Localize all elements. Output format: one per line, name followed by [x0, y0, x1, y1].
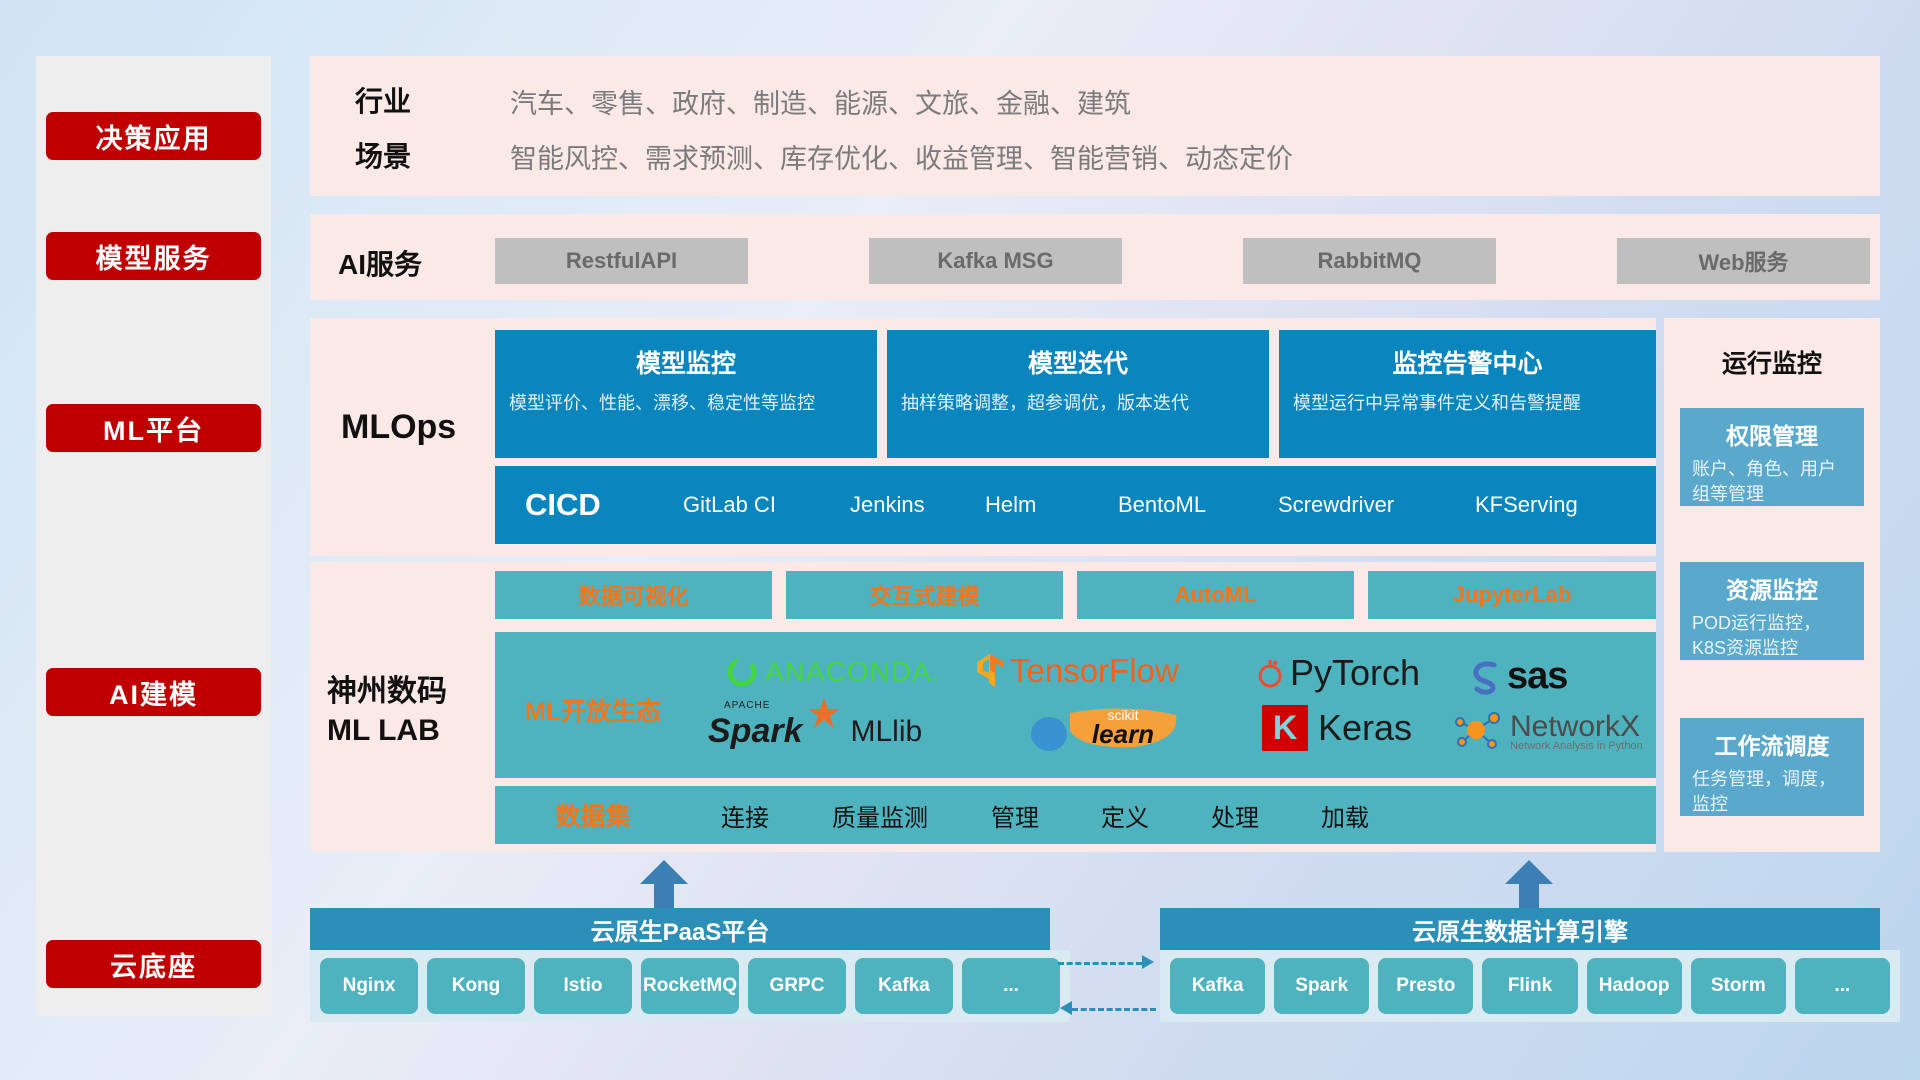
cicd-item-screwdriver[interactable]: Screwdriver — [1278, 492, 1403, 517]
rail-tag-decision[interactable]: 决策应用 — [46, 112, 261, 160]
paas-chip-istio[interactable]: Istio — [534, 958, 632, 1014]
pytorch-icon — [1255, 656, 1285, 690]
mlops-card-alert-center[interactable]: 监控告警中心 模型运行中异常事件定义和告警提醒 — [1279, 330, 1656, 458]
networkx-logo: NetworkX Network Analysis in Python — [1452, 708, 1643, 754]
mllab-label: 神州数码 ML LAB — [327, 672, 447, 750]
dataset-item-manage[interactable]: 管理 — [975, 798, 1055, 833]
chip-label: Storm — [1711, 976, 1766, 997]
keras-k-icon: K — [1262, 705, 1308, 751]
card-title: 资源监控 — [1680, 571, 1864, 605]
paas-chip-kafka[interactable]: Kafka — [855, 958, 953, 1014]
card-desc: 账户、角色、用户组等管理 — [1680, 457, 1864, 507]
dash-arrow-right — [1058, 962, 1142, 965]
networkx-graph-icon — [1452, 708, 1506, 754]
scenario-value: 智能风控、需求预测、库存优化、收益管理、智能营销、动态定价 — [510, 137, 1293, 176]
dataset-label: 数据集 — [533, 797, 653, 833]
cicd-item-bentoml[interactable]: BentoML — [1118, 492, 1228, 517]
anaconda-wordmark: ANACONDA. — [765, 656, 940, 688]
arrow-up-data-engine — [1505, 860, 1553, 910]
networkx-wordmark: NetworkX — [1510, 710, 1643, 744]
chip-label: Kafka — [1192, 976, 1244, 997]
chip-label: RocketMQ — [643, 976, 737, 997]
chip-label: Kafka MSG — [937, 248, 1053, 274]
cicd-item-jenkins[interactable]: Jenkins — [850, 492, 960, 517]
mllib-wordmark: MLlib — [851, 715, 923, 749]
card-title: 监控告警中心 — [1279, 344, 1656, 380]
left-rail — [36, 56, 271, 1016]
chip-label: Istio — [563, 976, 602, 997]
cicd-item-gitlab-ci[interactable]: GitLab CI — [683, 492, 793, 517]
mlops-card-model-iteration[interactable]: 模型迭代 抽样策略调整，超参调优，版本迭代 — [887, 330, 1269, 458]
architecture-diagram: 决策应用 模型服务 ML平台 AI建模 云底座 行业 汽车、零售、政府、制造、能… — [0, 0, 1920, 1080]
card-desc: 抽样策略调整，超参调优，版本迭代 — [887, 390, 1269, 416]
chip-label: 交互式建模 — [869, 579, 979, 611]
pytorch-wordmark: PyTorch — [1290, 652, 1420, 694]
engine-chip-kafka[interactable]: Kafka — [1170, 958, 1265, 1014]
mllab-label-line2: ML LAB — [327, 711, 447, 750]
dataset-item-process[interactable]: 处理 — [1195, 798, 1275, 833]
dataset-item-connect[interactable]: 连接 — [705, 798, 785, 833]
chip-label: Spark — [1295, 976, 1348, 997]
chip-label: RabbitMQ — [1318, 248, 1422, 274]
chip-label: Presto — [1396, 976, 1455, 997]
chip-label: ... — [1834, 976, 1850, 997]
ai-service-chip-rabbitmq[interactable]: RabbitMQ — [1243, 238, 1496, 284]
monitor-card-resource[interactable]: 资源监控 POD运行监控，K8S资源监控 — [1680, 562, 1864, 660]
engine-chip-presto[interactable]: Presto — [1378, 958, 1473, 1014]
rail-tag-label: ML平台 — [103, 409, 204, 448]
rail-tag-label: 模型服务 — [96, 237, 212, 276]
ai-service-chip-web-service[interactable]: Web服务 — [1617, 238, 1870, 284]
industry-value: 汽车、零售、政府、制造、能源、文旅、金融、建筑 — [510, 82, 1131, 121]
mllab-label-line1: 神州数码 — [327, 672, 447, 711]
paas-chip-grpc[interactable]: GRPC — [748, 958, 846, 1014]
chip-label: Hadoop — [1599, 976, 1670, 997]
scikit-learn-logo: scikit learn — [1030, 709, 1182, 756]
mlops-card-model-monitor[interactable]: 模型监控 模型评价、性能、漂移、稳定性等监控 — [495, 330, 877, 458]
chip-label: GRPC — [770, 976, 825, 997]
spark-mllib-logo: APACHE Spark MLlib — [708, 712, 922, 751]
cicd-item-kfserving[interactable]: KFServing — [1475, 492, 1595, 517]
card-desc: 任务管理，调度，监控 — [1680, 767, 1864, 817]
rail-tag-cloud-base[interactable]: 云底座 — [46, 940, 261, 988]
chip-label: 数据可视化 — [578, 579, 688, 611]
tool-chip-automl[interactable]: AutoML — [1077, 571, 1354, 619]
tool-chip-data-viz[interactable]: 数据可视化 — [495, 571, 772, 619]
card-desc: 模型评价、性能、漂移、稳定性等监控 — [495, 390, 877, 416]
chip-label: ... — [1003, 976, 1019, 997]
data-engine-title-bar: 云原生数据计算引擎 — [1160, 908, 1880, 950]
anaconda-logo: ANACONDA. — [725, 655, 940, 689]
tensorflow-wordmark: TensorFlow — [1010, 652, 1179, 690]
keras-wordmark: Keras — [1318, 707, 1412, 749]
scenario-key: 场景 — [355, 135, 411, 175]
card-title: 工作流调度 — [1680, 727, 1864, 761]
cicd-item-helm[interactable]: Helm — [985, 492, 1095, 517]
mlops-label: MLOps — [341, 408, 456, 447]
card-desc: POD运行监控，K8S资源监控 — [1680, 611, 1864, 661]
tool-chip-interactive[interactable]: 交互式建模 — [786, 571, 1063, 619]
chip-label: AutoML — [1175, 582, 1257, 608]
tool-chip-jupyterlab[interactable]: JupyterLab — [1368, 571, 1656, 619]
rail-tag-label: AI建模 — [109, 673, 198, 712]
spark-star-icon — [806, 696, 842, 732]
dataset-item-quality[interactable]: 质量监测 — [815, 798, 945, 833]
paas-chip-rocketmq[interactable]: RocketMQ — [641, 958, 739, 1014]
networkx-tagline: Network Analysis in Python — [1510, 740, 1643, 752]
rail-tag-label: 云底座 — [110, 945, 197, 984]
engine-chip-flink[interactable]: Flink — [1482, 958, 1577, 1014]
tensorflow-icon — [975, 653, 1005, 689]
chip-label: Nginx — [343, 976, 396, 997]
card-title: 模型迭代 — [887, 344, 1269, 380]
monitor-card-permission[interactable]: 权限管理 账户、角色、用户组等管理 — [1680, 408, 1864, 506]
card-title: 权限管理 — [1680, 417, 1864, 451]
dataset-item-load[interactable]: 加载 — [1305, 798, 1385, 833]
industry-key: 行业 — [355, 80, 411, 120]
data-engine-title: 云原生数据计算引擎 — [1412, 912, 1628, 947]
ai-service-chip-kafka-msg[interactable]: Kafka MSG — [869, 238, 1122, 284]
chip-label: Web服务 — [1698, 245, 1788, 277]
paas-chip-kong[interactable]: Kong — [427, 958, 525, 1014]
tensorflow-logo: TensorFlow — [975, 652, 1179, 690]
data-engine-chip-row: Kafka Spark Presto Flink Hadoop Storm ..… — [1160, 950, 1900, 1022]
sas-wordmark: sas — [1507, 655, 1567, 698]
spark-wordmark: Spark — [708, 712, 803, 750]
rail-tag-ai-modeling[interactable]: AI建模 — [46, 668, 261, 716]
anaconda-icon — [725, 655, 759, 689]
engine-chip-spark[interactable]: Spark — [1274, 958, 1369, 1014]
engine-chip-hadoop[interactable]: Hadoop — [1587, 958, 1682, 1014]
paas-title-bar: 云原生PaaS平台 — [310, 908, 1050, 950]
pytorch-logo: PyTorch — [1255, 652, 1420, 694]
card-desc: 模型运行中异常事件定义和告警提醒 — [1279, 390, 1656, 416]
dash-arrow-left — [1072, 1008, 1156, 1011]
rail-tag-ml-platform[interactable]: ML平台 — [46, 404, 261, 452]
card-title: 模型监控 — [495, 344, 877, 380]
sas-swirl-icon — [1465, 657, 1505, 697]
rail-tag-label: 决策应用 — [96, 117, 212, 156]
rail-tag-model-service[interactable]: 模型服务 — [46, 232, 261, 280]
arrow-up-paas — [640, 860, 688, 910]
dash-arrow-right-head — [1142, 955, 1154, 969]
monitor-card-workflow[interactable]: 工作流调度 任务管理，调度，监控 — [1680, 718, 1864, 816]
ai-service-chip-restfulapi[interactable]: RestfulAPI — [495, 238, 748, 284]
paas-chip-row: Nginx Kong Istio RocketMQ GRPC Kafka ... — [310, 950, 1070, 1022]
chip-label: RestfulAPI — [566, 248, 677, 274]
cicd-title: CICD — [525, 487, 601, 523]
paas-chip-nginx[interactable]: Nginx — [320, 958, 418, 1014]
monitor-panel: 运行监控 权限管理 账户、角色、用户组等管理 资源监控 POD运行监控，K8S资… — [1664, 318, 1880, 852]
chip-label: Kong — [452, 976, 501, 997]
dataset-bar: 数据集 连接 质量监测 管理 定义 处理 加载 — [495, 786, 1656, 844]
paas-chip-more[interactable]: ... — [962, 958, 1060, 1014]
chip-label: Kafka — [878, 976, 930, 997]
chip-label: JupyterLab — [1453, 582, 1572, 608]
sas-logo: sas — [1465, 655, 1567, 698]
monitor-panel-title: 运行监控 — [1664, 344, 1880, 380]
chip-label: Flink — [1508, 976, 1552, 997]
learn-wordmark: learn — [1064, 719, 1182, 750]
apache-wordmark: APACHE — [724, 700, 770, 711]
ai-service-label: AI服务 — [338, 243, 422, 283]
paas-title: 云原生PaaS平台 — [591, 912, 770, 947]
dataset-item-define[interactable]: 定义 — [1085, 798, 1165, 833]
ml-ecosystem-label: ML开放生态 — [525, 692, 661, 728]
engine-chip-storm[interactable]: Storm — [1691, 958, 1786, 1014]
dash-arrow-left-head — [1060, 1001, 1072, 1015]
keras-logo: K Keras — [1262, 705, 1412, 751]
engine-chip-more[interactable]: ... — [1795, 958, 1890, 1014]
